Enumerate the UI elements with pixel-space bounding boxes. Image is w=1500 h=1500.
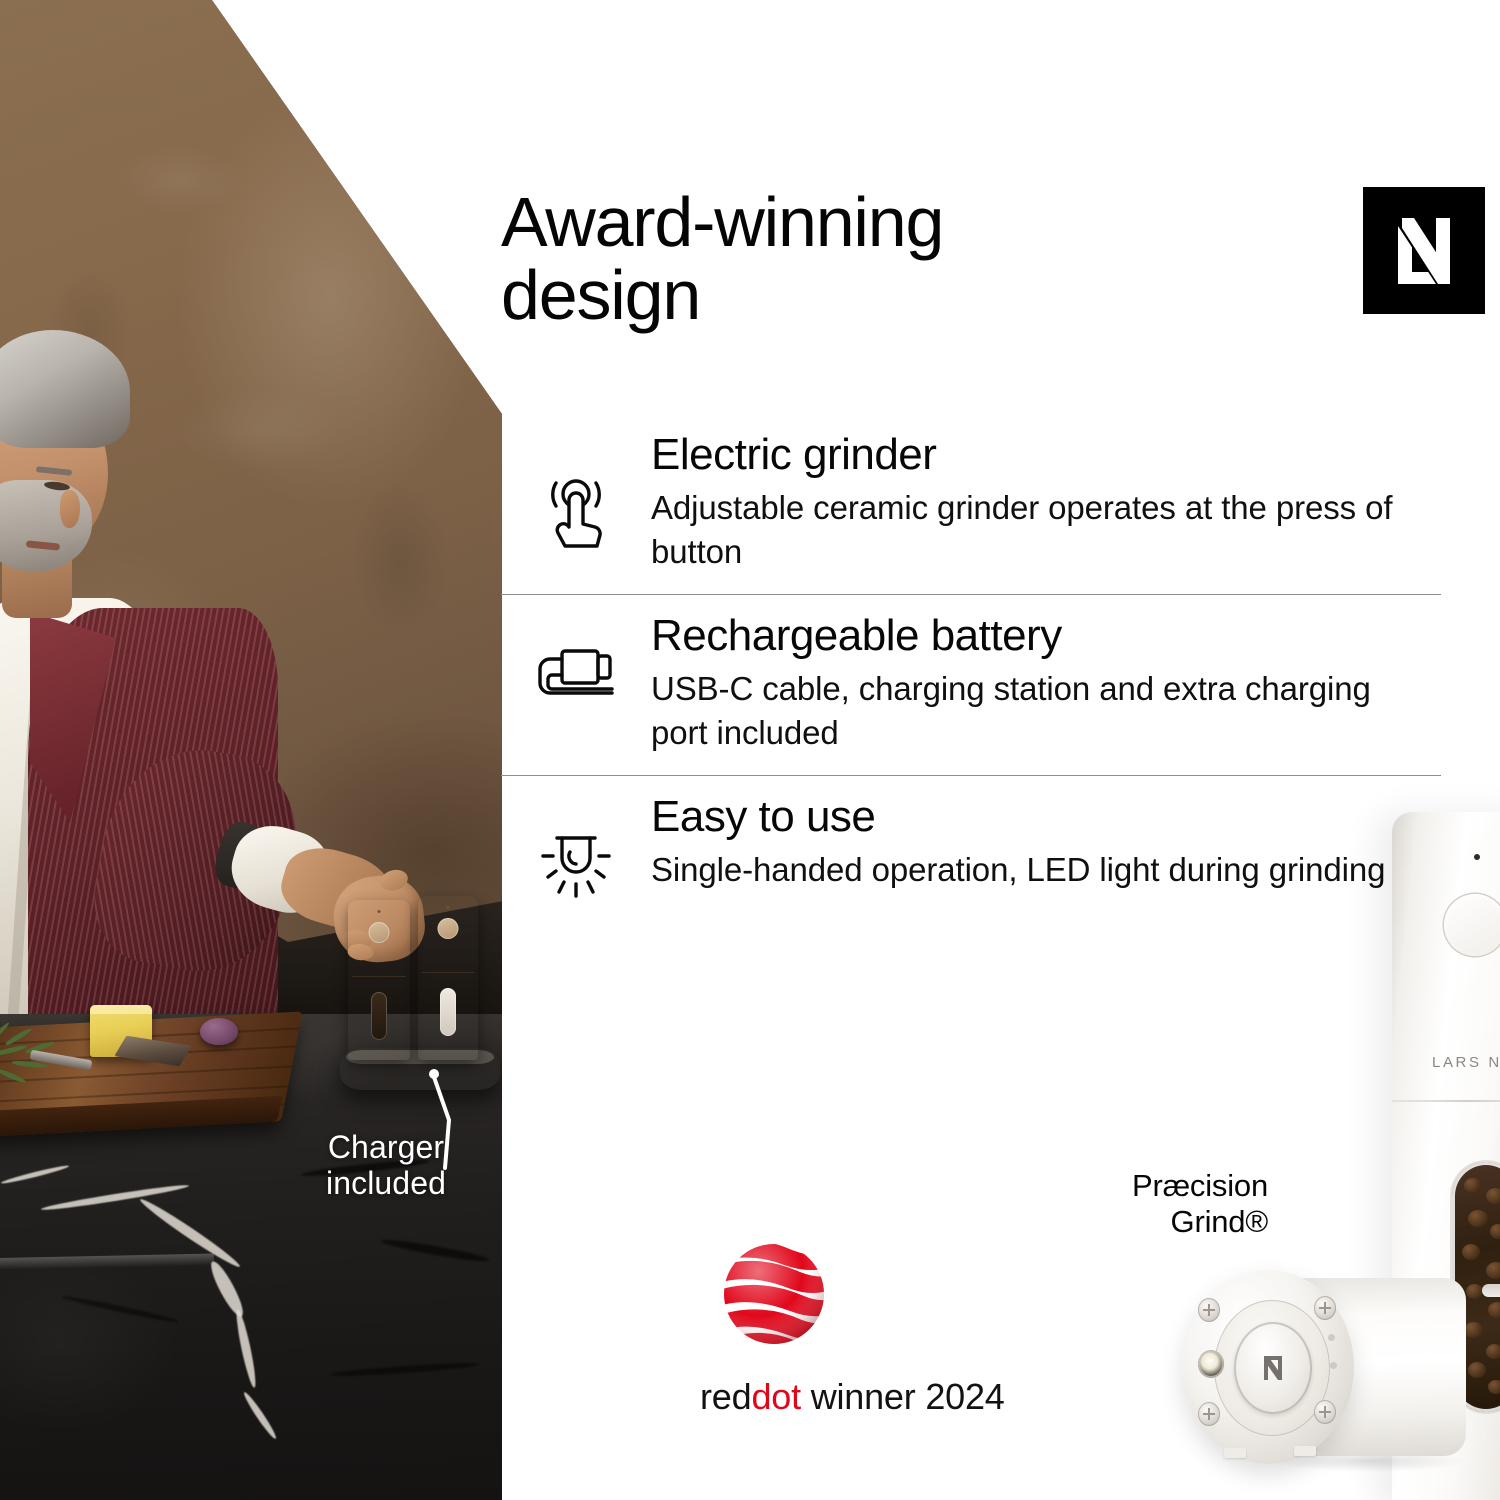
- grinder-button: [369, 922, 390, 943]
- grinder-seam: [352, 976, 406, 977]
- grinder-led-dot: [447, 906, 450, 909]
- precision-grind-text: Præcision Grind®: [1040, 1168, 1268, 1240]
- feature-item-electric-grinder: Electric grinder Adjustable ceramic grin…: [501, 430, 1441, 574]
- usb-c-cable-icon: [536, 645, 616, 707]
- feature-item-easy-to-use: Easy to use Single-handed operation, LED…: [501, 792, 1441, 902]
- status-dot: [1330, 1362, 1337, 1369]
- grinder-power-button: [1444, 894, 1500, 956]
- feature-description: Single-handed operation, LED light durin…: [651, 848, 1431, 892]
- reddot-sphere: [722, 1242, 826, 1346]
- feature-description: Adjustable ceramic grinder operates at t…: [651, 486, 1431, 574]
- grinder-window-salt: [440, 988, 456, 1036]
- charger-callout: Charger included: [280, 1130, 492, 1202]
- person-figure: [0, 330, 312, 1090]
- grinder-led-indicator: [1474, 854, 1480, 860]
- lars-nysoem-monogram-icon: [1392, 216, 1456, 286]
- charger-callout-text: Charger included: [280, 1130, 492, 1202]
- feature-icon-wrap: [501, 430, 651, 550]
- grinder-foot: [1294, 1446, 1316, 1456]
- grinder-seam: [422, 972, 474, 973]
- reddot-word-dot: dot: [751, 1376, 800, 1417]
- feature-description: USB-C cable, charging station and extra …: [651, 667, 1431, 755]
- feature-text: Rechargeable battery USB-C cable, chargi…: [651, 611, 1441, 755]
- beard: [0, 480, 92, 572]
- feature-text: Easy to use Single-handed operation, LED…: [651, 792, 1441, 892]
- nose: [60, 490, 80, 528]
- grind-adjustment-dial: [1234, 1322, 1312, 1414]
- led-light-icon: [539, 832, 613, 902]
- base-screw: [1314, 1400, 1336, 1424]
- grinder-foot: [1224, 1448, 1246, 1458]
- feature-list: Electric grinder Adjustable ceramic grin…: [501, 430, 1441, 902]
- feature-divider: [501, 594, 1441, 595]
- grinder-base-detail: [1178, 1268, 1428, 1500]
- brand-logo: [1363, 187, 1485, 314]
- product-wordmark: LARS NYS: [1432, 1054, 1500, 1071]
- lars-nysoem-dial-monogram-icon: [1260, 1354, 1286, 1382]
- base-screw: [1198, 1402, 1220, 1426]
- lifestyle-photo: Charger included: [0, 0, 502, 1500]
- feature-icon-wrap: [501, 792, 651, 902]
- grey-hair: [0, 330, 130, 448]
- base-screw: [1314, 1296, 1336, 1320]
- reddot-word-winner-year: winner 2024: [801, 1376, 1005, 1417]
- feature-text: Electric grinder Adjustable ceramic grin…: [651, 430, 1441, 574]
- press-button-hand-icon: [543, 476, 609, 550]
- grinder-vent: [1482, 1284, 1500, 1297]
- base-screw: [1198, 1298, 1220, 1322]
- precision-grind-callout: Præcision Grind®: [1040, 1168, 1268, 1240]
- feature-title: Rechargeable battery: [651, 611, 1431, 661]
- feature-divider: [501, 775, 1441, 776]
- grinder-body-seam: [1392, 1100, 1500, 1102]
- grinder-led-lamp: [1198, 1350, 1224, 1378]
- grinder-led-dot: [378, 910, 381, 913]
- grinder-button: [438, 918, 459, 939]
- reddot-word-red: red: [700, 1376, 751, 1417]
- page-title: Award-winning design: [501, 186, 1261, 332]
- product-feature-banner: Charger included Award-winning design: [0, 0, 1500, 1500]
- reddot-award: reddot winner 2024: [700, 1242, 1060, 1418]
- reddot-caption: reddot winner 2024: [700, 1376, 1060, 1418]
- feature-title: Electric grinder: [651, 430, 1431, 480]
- pepper-grinder: [348, 900, 410, 1060]
- grinder-bottom-cap: [1182, 1270, 1354, 1464]
- red-onion: [200, 1018, 238, 1045]
- salt-grinder: [418, 896, 478, 1060]
- reddot-sphere-icon: [722, 1242, 826, 1346]
- feature-item-rechargeable-battery: Rechargeable battery USB-C cable, chargi…: [501, 611, 1441, 755]
- status-dot: [1328, 1334, 1335, 1341]
- grinder-window-pepper: [371, 992, 387, 1040]
- feature-icon-wrap: [501, 611, 651, 707]
- feature-title: Easy to use: [651, 792, 1431, 842]
